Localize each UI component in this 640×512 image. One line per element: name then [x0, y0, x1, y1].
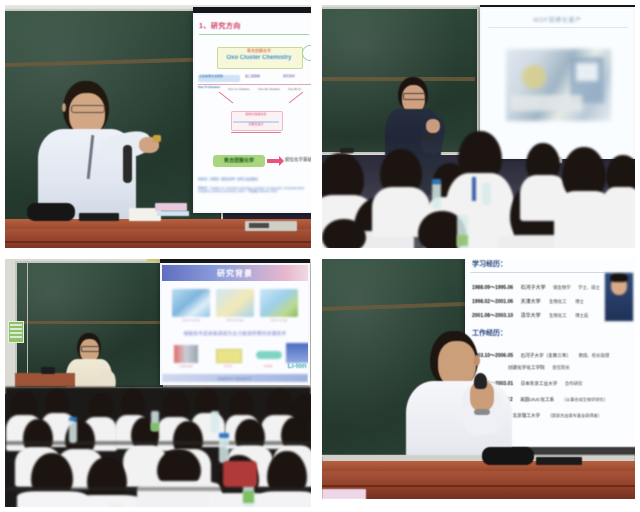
cluster-item-1: Oxo Ln Clusters: [228, 88, 256, 91]
water-bottle: [69, 421, 77, 443]
slide-green-tag-right: 配位化学基础: [285, 157, 311, 163]
slide-image-wind: [216, 289, 254, 317]
cluster-item-0: Oxo Ti Clusters: [198, 86, 226, 89]
projection-screen: 1、研究方向 氧合团簇化学 Oxo Cluster Chemistry 过渡金属…: [193, 13, 311, 213]
slide-axis-label: ENERGY DENSITY: [162, 377, 308, 381]
lanyard: [472, 177, 476, 201]
work-place-1: 创建化学化工学院: [508, 365, 545, 370]
podium-front: [5, 229, 311, 248]
notice-board: [8, 321, 24, 343]
slide-green-tag: 氧合团簇化学: [214, 157, 264, 164]
wristwatch: [474, 409, 490, 415]
book-stack: [155, 203, 187, 211]
slide-caption-1: Wind energy: [216, 319, 254, 322]
battery-label-1: Ni-Cd: [212, 365, 244, 368]
battery-icon-lead-acid: [174, 345, 198, 363]
laptop-bag: [482, 447, 534, 465]
portrait-photo: [604, 272, 634, 322]
slide-box-heading-cn: 氧合团簇化学: [219, 48, 299, 54]
slide-box-heading-en: Oxo Cluster Chemistry: [219, 55, 299, 61]
water-bottle: [482, 183, 491, 205]
battery-label-3: Li-Ion: [280, 363, 308, 370]
laptop-bag: [27, 203, 75, 221]
education-degree-2: 博士后: [575, 313, 588, 318]
cluster-item-3: Oxo Bi Cl...: [288, 88, 311, 91]
glasses-icon: [81, 346, 100, 352]
battery-label-0: Lead-acid: [170, 365, 202, 368]
water-bottle: [219, 437, 229, 463]
work-note-1: 首任院长: [552, 365, 570, 370]
microphone: [123, 145, 132, 183]
cluster-item-2: Oxo Se Clusters: [258, 88, 286, 91]
battery-icon-nimh: [256, 351, 282, 359]
water-bottle: [211, 411, 219, 433]
glasses-icon: [71, 105, 105, 113]
collage-photo-top-right: MOF规模化量产: [322, 5, 635, 248]
slide-statement: 储能技术是新能源成为主力能源所需的关键技术: [168, 331, 302, 337]
work-note-2: 合作研究: [565, 381, 583, 386]
slide-footnote-2: 参考书：Chapter 11, Synthetic chemistry of c…: [198, 187, 311, 194]
slide-image-solar: [260, 289, 298, 317]
work-place-2: 日本东京工业大学: [521, 381, 558, 386]
slide-section-education-title: 学习经历：: [472, 259, 507, 269]
laptop: [79, 213, 119, 221]
slide-footnote-1: 参考书：刘伟生《配位化学》化学工业出版社: [198, 178, 311, 181]
slide-row-label: 过渡金属氧合团簇: [199, 75, 241, 78]
photo-collage: 1、研究方向 氧合团簇化学 Oxo Cluster Chemistry 过渡金属…: [0, 0, 640, 512]
slide-section-work-title: 工作经历：: [472, 328, 507, 338]
slide-mid-line-1: 结构与性能关系: [232, 113, 280, 116]
slide-title: 研究背景: [162, 268, 308, 279]
collage-photo-bottom-left: 研究背景 Hydro energy Wind energy Solar ener…: [5, 259, 311, 507]
laptop: [536, 457, 582, 465]
work-note-4: （国家杰出青年基金获得者）: [548, 413, 602, 418]
collage-photo-bottom-right: 学习经历： 1988.09～1995.06 石河子大学 微生物学 学士、硕士 1…: [322, 259, 635, 507]
education-period-2: 2001.08～2003.10: [472, 313, 513, 319]
slide-title: 1、研究方向: [199, 21, 279, 31]
slide-caption-2: Solar energy: [260, 319, 298, 322]
work-place-4: 北京理工大学: [513, 413, 541, 418]
battery-icon-nicd: [216, 349, 242, 363]
front-desk: [15, 373, 75, 387]
work-place-3: 美国UIUC化工系: [520, 397, 554, 402]
education-school-2: 清华大学: [521, 313, 541, 319]
education-row: 2001.08～2003.10 清华大学 生物化工 博士后: [472, 304, 622, 322]
collage-photo-top-left: 1、研究方向 氧合团簇化学 Oxo Cluster Chemistry 过渡金属…: [5, 5, 311, 248]
slide-image-hydro: [172, 289, 210, 317]
slide-mid-line-2: 功能化设计: [232, 123, 280, 126]
microphone: [474, 373, 487, 389]
slide-caption-0: Hydro energy: [172, 319, 210, 322]
education-field-2: 生物化工: [549, 313, 567, 318]
projection-screen: 研究背景 Hydro energy Wind energy Solar ener…: [160, 263, 310, 385]
slide-title: MOF规模化量产: [482, 15, 633, 24]
glasses-icon: [403, 93, 426, 100]
work-note-3: （从事合成生物学研究）: [562, 397, 608, 402]
water-bottle: [432, 183, 441, 209]
speaker-hand: [426, 119, 440, 133]
laser-pointer-icon: [153, 135, 161, 142]
red-backpack: [223, 461, 257, 487]
battery-icon-liion: [286, 343, 308, 363]
